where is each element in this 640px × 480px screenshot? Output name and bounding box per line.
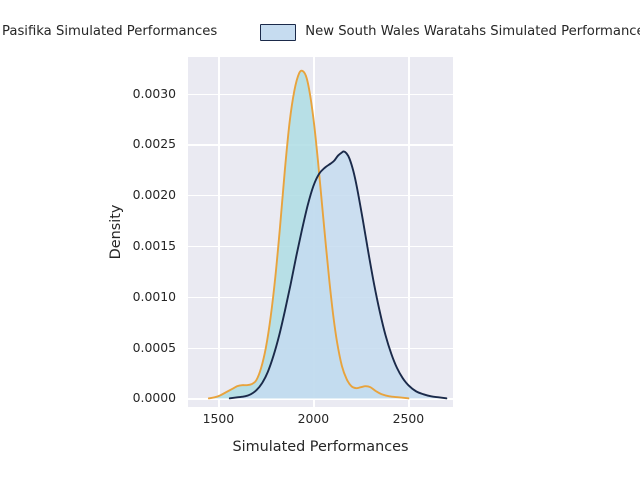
y-tick-label: 0.0020: [0, 189, 182, 201]
plot-area: [188, 57, 453, 407]
y-tick-label: 0.0015: [0, 240, 182, 252]
x-tick-label: 2000: [298, 413, 330, 425]
figure-canvas: Pasifika Simulated Performances New Sout…: [0, 0, 640, 480]
x-tick-label: 2500: [393, 413, 425, 425]
y-axis-tick-labels: 0.00000.00050.00100.00150.00200.00250.00…: [0, 0, 182, 480]
y-tick-label: 0.0025: [0, 138, 182, 150]
x-tick-label: 1500: [203, 413, 235, 425]
legend-swatch-waratahs: [260, 24, 296, 41]
y-axis-label: Density: [109, 57, 123, 407]
x-axis-tick-labels: 150020002500: [0, 413, 640, 435]
y-tick-label: 0.0010: [0, 291, 182, 303]
y-tick-label: 0.0000: [0, 392, 182, 404]
y-tick-label: 0.0005: [0, 342, 182, 354]
kde-curves: [188, 57, 453, 407]
legend-entry-waratahs: New South Wales Waratahs Simulated Perfo…: [260, 24, 640, 41]
legend-label-waratahs: New South Wales Waratahs Simulated Perfo…: [305, 25, 640, 38]
x-axis-label: Simulated Performances: [188, 440, 453, 454]
y-tick-label: 0.0030: [0, 88, 182, 100]
